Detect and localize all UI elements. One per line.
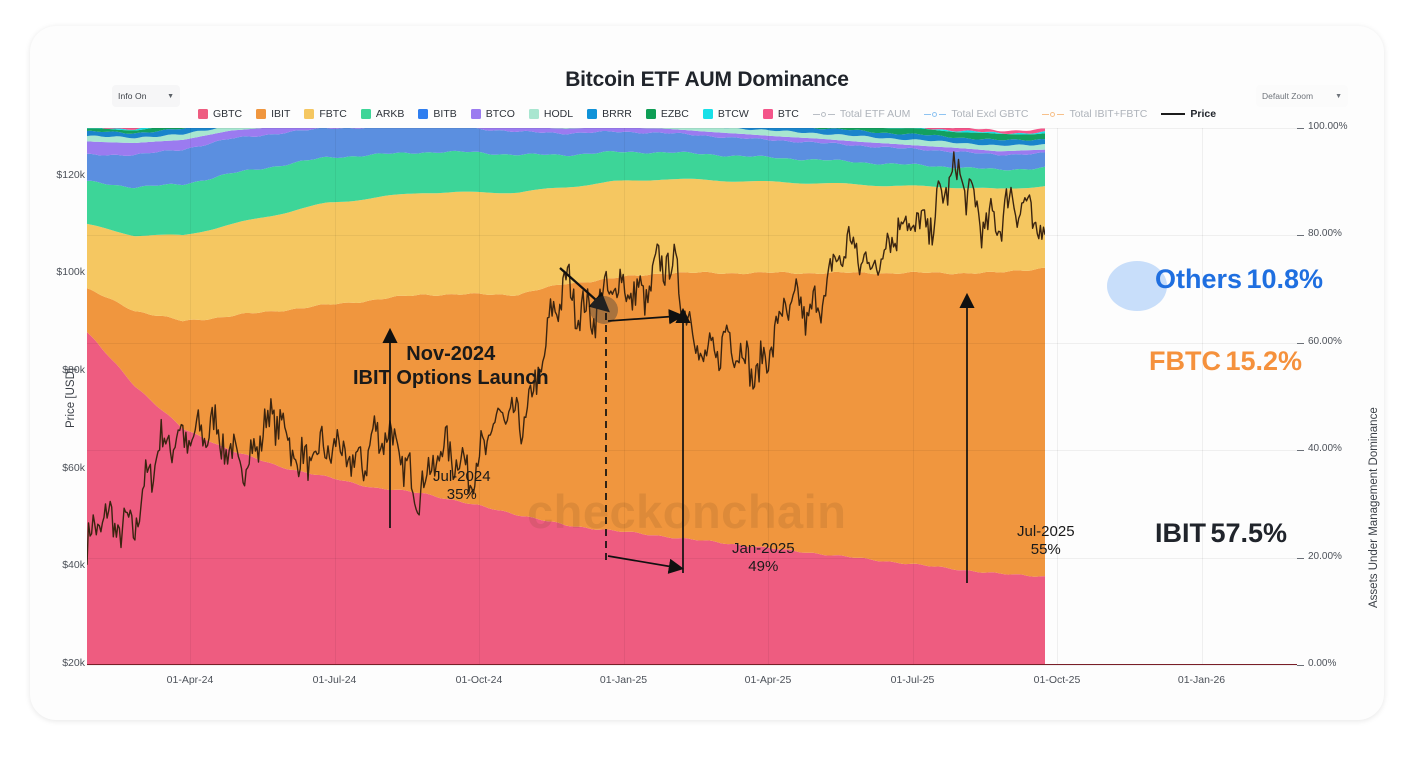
y2-axis-tick	[1297, 665, 1304, 666]
legend-item-btco[interactable]: BTCO	[471, 108, 515, 120]
legend-item-label: BITB	[433, 108, 456, 120]
legend-item-ezbc[interactable]: EZBC	[646, 108, 689, 120]
y2-axis-tick	[1297, 558, 1304, 559]
y-axis-label: $60k	[30, 462, 85, 474]
annotation-jul2024: Jul-2024 35%	[433, 468, 491, 505]
y2-axis-tick	[1297, 343, 1304, 344]
legend-swatch-icon	[256, 109, 266, 119]
y2-axis-label: 80.00%	[1308, 228, 1342, 239]
x-axis-label: 01-Oct-24	[456, 674, 503, 686]
chart-plot-area: checkonchain Price [USD] Assets Under Ma…	[87, 128, 1297, 665]
legend-swatch-icon	[703, 109, 713, 119]
legend-item-label: Total IBIT+FBTC	[1069, 108, 1147, 120]
legend-item-total-etf-aum[interactable]: Total ETF AUM	[813, 108, 911, 120]
callout-fbtc-value: 15.2%	[1225, 346, 1302, 376]
gridline-vertical	[1057, 128, 1058, 665]
y2-axis-tick	[1297, 128, 1304, 129]
legend-swatch-icon	[529, 109, 539, 119]
legend-item-fbtc[interactable]: FBTC	[304, 108, 346, 120]
annotation-jan2025: Jan-2025 49%	[732, 540, 795, 577]
stacked-area-svg	[87, 128, 1045, 665]
callout-others: Others 10.8%	[1155, 264, 1323, 295]
legend-item-label: GBTC	[213, 108, 242, 120]
legend-dashed-line-icon	[1042, 109, 1064, 119]
page-title: Bitcoin ETF AUM Dominance	[30, 68, 1384, 92]
legend-swatch-icon	[471, 109, 481, 119]
legend-item-label: ARKB	[376, 108, 405, 120]
y-axis-label: $120k	[30, 169, 85, 181]
callout-ibit: IBIT 57.5%	[1155, 518, 1287, 549]
legend-item-label: BTCW	[718, 108, 749, 120]
legend-swatch-icon	[304, 109, 314, 119]
legend-item-label: BTC	[778, 108, 799, 120]
annotation-jul2025: Jul-2025 55%	[1017, 523, 1075, 560]
y2-axis-label: 60.00%	[1308, 336, 1342, 347]
legend-swatch-icon	[646, 109, 656, 119]
annotation-jul2025-line2: 55%	[1017, 541, 1075, 559]
legend-item-ibit[interactable]: IBIT	[256, 108, 290, 120]
x-axis-label: 01-Apr-24	[167, 674, 214, 686]
x-axis-label: 01-Oct-25	[1034, 674, 1081, 686]
legend-swatch-icon	[587, 109, 597, 119]
y-axis-label: $40k	[30, 559, 85, 571]
y2-axis-label: 20.00%	[1308, 551, 1342, 562]
y-axis-title: Price [USD]	[65, 368, 77, 428]
callout-others-name: Others	[1155, 264, 1242, 294]
legend-item-arkb[interactable]: ARKB	[361, 108, 405, 120]
annotation-jul2024-line1: Jul-2024	[433, 468, 491, 486]
chevron-down-icon: ▼	[1335, 93, 1342, 100]
annotation-jul2025-line1: Jul-2025	[1017, 523, 1075, 541]
legend-item-label: Total Excl GBTC	[951, 108, 1028, 120]
legend-swatch-icon	[361, 109, 371, 119]
annotation-nov2024: Nov-2024 IBIT Options Launch	[353, 342, 549, 391]
annotation-nov2024-line1: Nov-2024	[353, 342, 549, 366]
y2-axis-tick	[1297, 235, 1304, 236]
legend-swatch-icon	[763, 109, 773, 119]
legend-item-label: IBIT	[271, 108, 290, 120]
callout-fbtc: FBTC 15.2%	[1149, 346, 1302, 377]
y2-axis-label: 100.00%	[1308, 121, 1347, 132]
legend-item-label: BTCO	[486, 108, 515, 120]
gridline-vertical	[1202, 128, 1203, 665]
legend-item-label: FBTC	[319, 108, 346, 120]
legend-item-label: BRRR	[602, 108, 632, 120]
stacked-area-canvas	[87, 128, 1045, 665]
annotation-nov2024-line2: IBIT Options Launch	[353, 366, 549, 390]
legend-item-gbtc[interactable]: GBTC	[198, 108, 242, 120]
screenshot-root: Info On ▼ Default Zoom ▼ Bitcoin ETF AUM…	[0, 0, 1414, 766]
legend-item-btc[interactable]: BTC	[763, 108, 799, 120]
x-axis-label: 01-Apr-25	[745, 674, 792, 686]
chart-card: Info On ▼ Default Zoom ▼ Bitcoin ETF AUM…	[30, 26, 1384, 720]
chevron-down-icon: ▼	[167, 93, 174, 100]
legend-item-brrr[interactable]: BRRR	[587, 108, 632, 120]
legend-swatch-icon	[198, 109, 208, 119]
callout-others-value: 10.8%	[1246, 264, 1323, 294]
x-axis-label: 01-Jul-25	[891, 674, 935, 686]
y2-axis-label: 0.00%	[1308, 658, 1336, 669]
callout-fbtc-name: FBTC	[1149, 346, 1221, 376]
legend-item-btcw[interactable]: BTCW	[703, 108, 749, 120]
y-axis-label: $80k	[30, 364, 85, 376]
x-axis-line	[87, 664, 1297, 665]
y2-axis-label: 40.00%	[1308, 443, 1342, 454]
callout-ibit-name: IBIT	[1155, 518, 1206, 548]
legend-item-label: Total ETF AUM	[840, 108, 911, 120]
x-axis-label: 01-Jan-25	[600, 674, 647, 686]
x-axis-label: 01-Jan-26	[1178, 674, 1225, 686]
legend-solid-line-icon	[1161, 109, 1185, 119]
y2-axis-tick	[1297, 450, 1304, 451]
info-dropdown-label: Info On	[118, 91, 147, 101]
legend-item-label: HODL	[544, 108, 573, 120]
zoom-dropdown-label: Default Zoom	[1262, 91, 1313, 101]
legend-swatch-icon	[418, 109, 428, 119]
legend-dashed-line-icon	[813, 109, 835, 119]
annotation-jul2024-line2: 35%	[433, 486, 491, 504]
legend-item-bitb[interactable]: BITB	[418, 108, 456, 120]
legend-item-total-excl-gbtc[interactable]: Total Excl GBTC	[924, 108, 1028, 120]
x-axis-label: 01-Jul-24	[313, 674, 357, 686]
legend-item-label: Price	[1190, 108, 1216, 120]
legend-dashed-line-icon	[924, 109, 946, 119]
legend-item-hodl[interactable]: HODL	[529, 108, 573, 120]
callout-ibit-value: 57.5%	[1210, 518, 1287, 548]
legend-item-total-ibit-fbtc[interactable]: Total IBIT+FBTC	[1042, 108, 1147, 120]
y2-axis-title: Assets Under Management Dominance	[1368, 407, 1380, 608]
legend-item-price[interactable]: Price	[1161, 108, 1216, 120]
y-axis-label: $100k	[30, 266, 85, 278]
annotation-jan2025-line2: 49%	[732, 558, 795, 576]
chart-legend: GBTCIBITFBTCARKBBITBBTCOHODLBRRREZBCBTCW…	[30, 108, 1384, 120]
annotation-jan2025-line1: Jan-2025	[732, 540, 795, 558]
legend-item-label: EZBC	[661, 108, 689, 120]
y-axis-label: $20k	[30, 657, 85, 669]
